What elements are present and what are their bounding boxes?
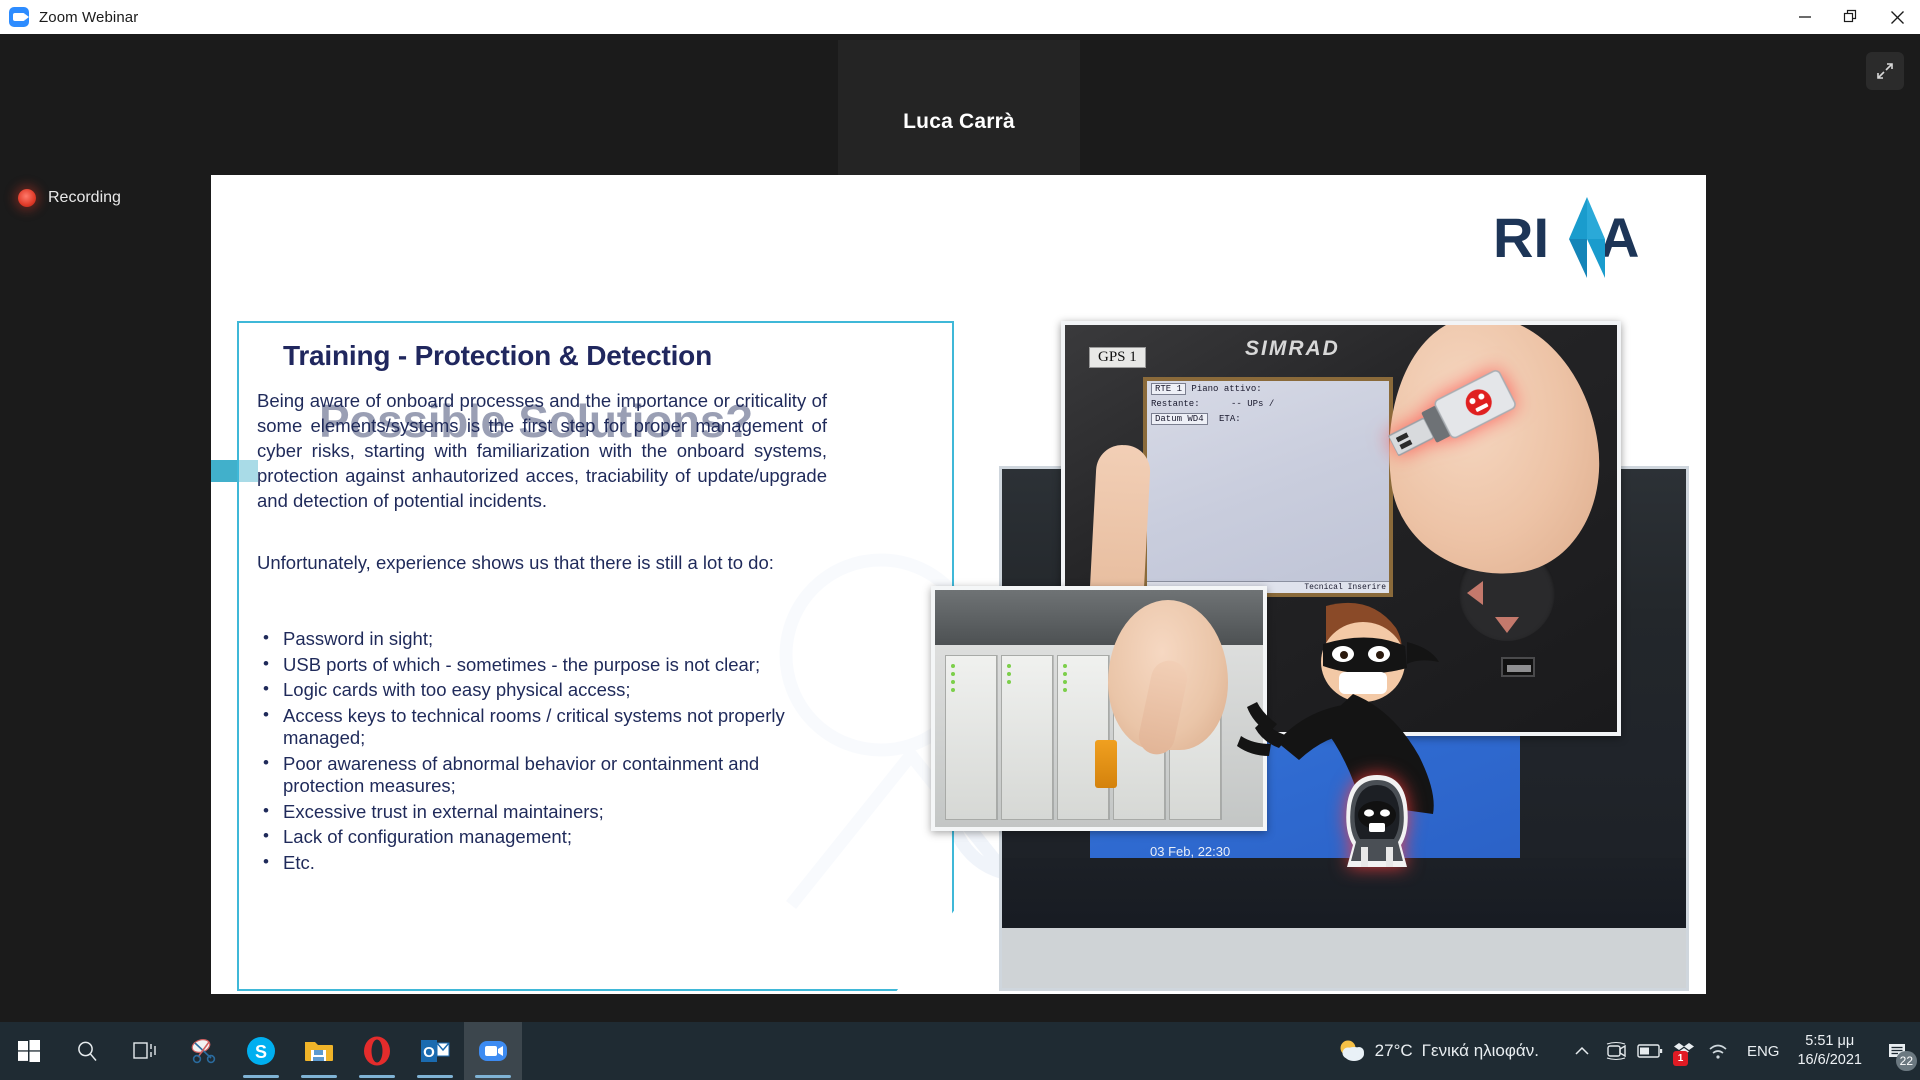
weather-temperature: 27°C bbox=[1375, 1041, 1413, 1061]
sun-cloud-icon bbox=[1338, 1038, 1366, 1064]
list-item: Password in sight; bbox=[257, 628, 837, 651]
svg-text:O: O bbox=[423, 1044, 435, 1061]
language-indicator[interactable]: ENG bbox=[1747, 1043, 1780, 1060]
photo-logic-cards bbox=[931, 586, 1267, 831]
usb-port bbox=[1501, 657, 1535, 677]
simrad-display: RTE 1 Piano attivo: Restante: -- UPs / D… bbox=[1143, 377, 1393, 597]
recording-indicator: Recording bbox=[18, 189, 121, 207]
skype-button[interactable]: S bbox=[232, 1022, 290, 1080]
content-bullet-list: Password in sight; USB ports of which - … bbox=[257, 628, 837, 877]
wifi-icon[interactable] bbox=[1701, 1022, 1735, 1080]
svg-text:A: A bbox=[1599, 206, 1639, 269]
task-view-button[interactable] bbox=[116, 1022, 174, 1080]
opera-button[interactable] bbox=[348, 1022, 406, 1080]
list-item: Poor awareness of abnormal behavior or c… bbox=[257, 753, 837, 798]
zoom-button[interactable] bbox=[464, 1022, 522, 1080]
snipping-tool-button[interactable] bbox=[174, 1022, 232, 1080]
list-item: Logic cards with too easy physical acces… bbox=[257, 679, 837, 702]
content-paragraph-2: Unfortunately, experience shows us that … bbox=[257, 550, 827, 575]
recording-dot-icon bbox=[18, 189, 36, 207]
clock-time: 5:51 μμ bbox=[1797, 1032, 1862, 1051]
list-item: Access keys to technical rooms / critica… bbox=[257, 705, 837, 750]
zoom-meeting-stage: Recording Luca Carrà Possible Solutions?… bbox=[0, 34, 1920, 1022]
simrad-text-ups: -- UPs / bbox=[1231, 399, 1274, 409]
notification-center-button[interactable]: 22 bbox=[1874, 1022, 1920, 1080]
gps-label: GPS 1 bbox=[1089, 347, 1146, 368]
simrad-text-piano: Piano attivo: bbox=[1191, 384, 1261, 394]
search-button[interactable] bbox=[58, 1022, 116, 1080]
speaker-name: Luca Carrà bbox=[903, 110, 1015, 134]
system-tray: 27°C Γενικά ηλιοφάν. bbox=[1338, 1022, 1920, 1080]
svg-text:S: S bbox=[255, 1042, 267, 1062]
minimize-icon[interactable] bbox=[1782, 0, 1828, 34]
battery-icon[interactable] bbox=[1633, 1022, 1667, 1080]
photo-collage: Cargo mation rge: 03 Feb, 22:30 ✕ ✓ ⌂ bbox=[931, 321, 1691, 991]
close-icon[interactable] bbox=[1874, 0, 1920, 34]
notification-count: 22 bbox=[1896, 1051, 1917, 1071]
simrad-text-restante: Restante: bbox=[1151, 399, 1200, 409]
console-timestamp: 03 Feb, 22:30 bbox=[1150, 844, 1230, 859]
file-explorer-button[interactable] bbox=[290, 1022, 348, 1080]
rina-logo: RI A bbox=[1491, 195, 1666, 280]
list-item: Excessive trust in external maintainers; bbox=[257, 801, 837, 824]
svg-text:RI: RI bbox=[1493, 206, 1549, 269]
simrad-text-eta: ETA: bbox=[1219, 414, 1241, 424]
list-item: USB ports of which - sometimes - the pur… bbox=[257, 654, 837, 677]
list-item: Etc. bbox=[257, 852, 837, 875]
outlook-button[interactable]: O bbox=[406, 1022, 464, 1080]
restore-icon[interactable] bbox=[1828, 0, 1874, 34]
simrad-field-datum: Datum WD4 bbox=[1151, 413, 1208, 425]
content-paragraph-1: Being aware of onboard processes and the… bbox=[257, 388, 827, 513]
zoom-camera-icon bbox=[9, 7, 29, 27]
hacker-emblem bbox=[1331, 771, 1423, 871]
window-title-bar: Zoom Webinar bbox=[0, 0, 1920, 34]
weather-description: Γενικά ηλιοφάν. bbox=[1422, 1041, 1539, 1061]
dropbox-badge: 1 bbox=[1673, 1051, 1688, 1066]
sd-card bbox=[1095, 740, 1117, 788]
clock-date: 16/6/2021 bbox=[1797, 1051, 1862, 1070]
list-item: Lack of configuration management; bbox=[257, 826, 837, 849]
weather-widget[interactable]: 27°C Γενικά ηλιοφάν. bbox=[1338, 1038, 1539, 1064]
dropbox-icon[interactable]: 1 bbox=[1667, 1022, 1701, 1080]
console-wall bbox=[1002, 928, 1686, 988]
simrad-field-rte: RTE 1 bbox=[1151, 383, 1186, 395]
window-title: Zoom Webinar bbox=[39, 9, 138, 26]
fullscreen-expand-icon[interactable] bbox=[1866, 52, 1904, 90]
windows-taskbar: S O bbox=[0, 1022, 1920, 1080]
recording-label: Recording bbox=[48, 189, 121, 207]
chevron-up-icon[interactable] bbox=[1565, 1022, 1599, 1080]
content-subtitle: Training - Protection & Detection bbox=[283, 340, 712, 372]
shared-slide: Possible Solutions? RI A bbox=[211, 175, 1706, 994]
zoom-tray-icon[interactable] bbox=[1599, 1022, 1633, 1080]
start-button[interactable] bbox=[0, 1022, 58, 1080]
simrad-brand-label: SIMRAD bbox=[1245, 337, 1340, 361]
clock[interactable]: 5:51 μμ 16/6/2021 bbox=[1797, 1032, 1862, 1070]
slide-content-box: Training - Protection & Detection Being … bbox=[237, 321, 954, 991]
